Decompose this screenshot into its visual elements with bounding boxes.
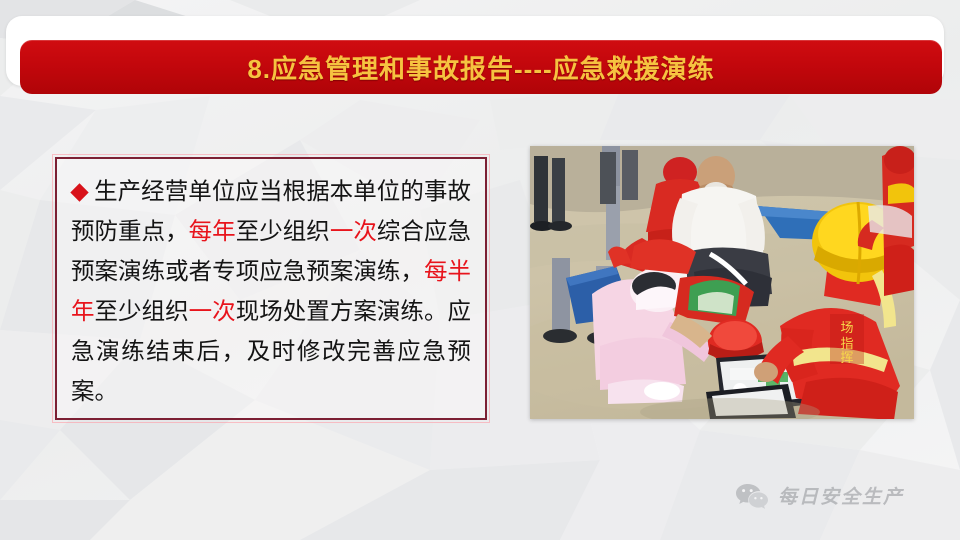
watermark: 每日安全生产 bbox=[735, 482, 904, 509]
slide-title-bar: 8.应急管理和事故报告----应急救援演练 bbox=[20, 40, 942, 94]
slide-canvas: 8.应急管理和事故报告----应急救援演练 生产经营单位应当根据本单位的事故预防… bbox=[0, 0, 960, 540]
body-segment-2: 至少组织 bbox=[236, 218, 330, 244]
wechat-icon bbox=[735, 483, 769, 509]
body-segment-1-highlight: 每年 bbox=[189, 218, 236, 244]
photo-artwork: 场 指 挥 bbox=[530, 146, 914, 419]
body-segment-3-highlight: 一次 bbox=[330, 218, 377, 244]
page-title: 8.应急管理和事故报告----应急救援演练 bbox=[247, 49, 714, 86]
title-bar-frame: 8.应急管理和事故报告----应急救援演练 bbox=[6, 16, 944, 86]
rescue-drill-photo: 场 指 挥 bbox=[530, 146, 914, 419]
content-text-panel: 生产经营单位应当根据本单位的事故预防重点，每年至少组织一次综合应急预案演练或者专… bbox=[55, 157, 487, 420]
svg-text:场: 场 bbox=[840, 320, 853, 335]
svg-text:指: 指 bbox=[840, 336, 853, 351]
diamond-bullet-icon bbox=[70, 183, 88, 201]
body-segment-6: 至少组织 bbox=[95, 298, 189, 324]
body-segment-7-highlight: 一次 bbox=[189, 298, 236, 324]
watermark-text: 每日安全生产 bbox=[778, 482, 904, 509]
svg-text:挥: 挥 bbox=[840, 350, 853, 365]
body-paragraph: 生产经营单位应当根据本单位的事故预防重点，每年至少组织一次综合应急预案演练或者专… bbox=[71, 171, 471, 411]
